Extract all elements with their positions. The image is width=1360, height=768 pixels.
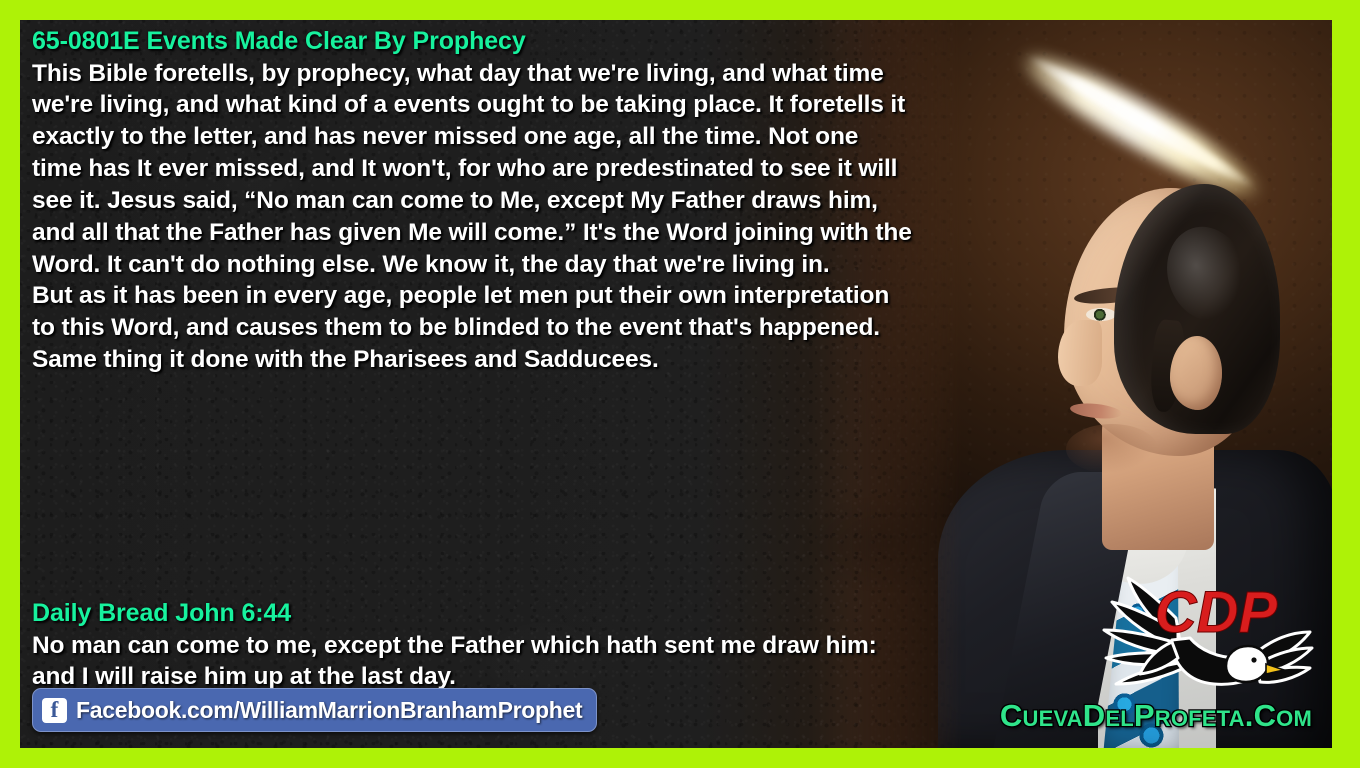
eye xyxy=(1086,308,1116,321)
site-wordmark[interactable]: CuevaDelProfeta.Com xyxy=(1000,698,1312,734)
slide-frame: CDP 65-0801E Events Made Clear By Prophe… xyxy=(0,0,1360,768)
dove-eye xyxy=(1251,657,1256,662)
cdp-logo-text: CDP xyxy=(1155,580,1278,645)
sermon-text-block: 65-0801E Events Made Clear By Prophecy T… xyxy=(32,26,912,376)
ear xyxy=(1170,336,1222,410)
daily-bread-verse: No man can come to me, except the Father… xyxy=(32,630,912,694)
facebook-url-label: Facebook.com/WilliamMarrionBranhamProphe… xyxy=(76,697,582,724)
facebook-icon xyxy=(42,698,67,723)
sermon-paragraph-2: But as it has been in every age, people … xyxy=(32,280,912,376)
nose xyxy=(1058,320,1102,386)
dove-head xyxy=(1226,646,1268,682)
slide-canvas: CDP 65-0801E Events Made Clear By Prophe… xyxy=(20,20,1332,748)
cdp-logo: CDP xyxy=(1098,556,1314,706)
sermon-paragraph-1: This Bible foretells, by prophecy, what … xyxy=(32,58,912,281)
daily-bread-heading: Daily Bread John 6:44 xyxy=(32,598,912,629)
sermon-title: 65-0801E Events Made Clear By Prophecy xyxy=(32,26,912,57)
facebook-link[interactable]: Facebook.com/WilliamMarrionBranhamProphe… xyxy=(32,688,597,732)
sermon-body: This Bible foretells, by prophecy, what … xyxy=(32,58,912,376)
daily-bread-block: Daily Bread John 6:44 No man can come to… xyxy=(32,598,912,693)
chin-shadow xyxy=(1066,424,1158,474)
